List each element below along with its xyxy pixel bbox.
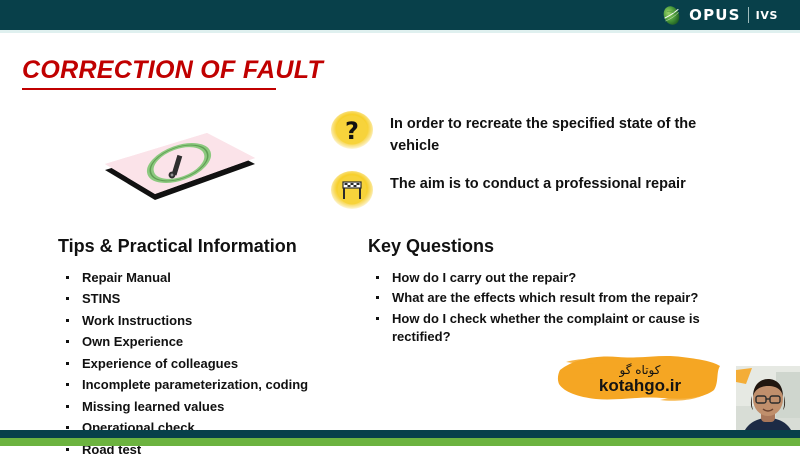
column-heading: Tips & Practical Information xyxy=(58,236,368,257)
tips-column: Tips & Practical Information Repair Manu… xyxy=(58,236,368,462)
list-item: Work Instructions xyxy=(58,312,368,330)
bottom-green-bar xyxy=(0,438,800,446)
presentation-slide: OPUS IVS CORRECTION OF FAULT xyxy=(0,0,800,446)
watermark-persian-text: کوتاه گو xyxy=(620,364,661,376)
list-item: Incomplete parameterization, coding xyxy=(58,376,368,394)
globe-icon xyxy=(661,5,682,26)
title-underline xyxy=(22,88,276,90)
slide-title: CORRECTION OF FAULT xyxy=(22,56,323,85)
brand-name: OPUS xyxy=(689,8,741,23)
key-questions-column: Key Questions How do I carry out the rep… xyxy=(368,236,738,349)
list-item: What are the effects which result from t… xyxy=(368,289,738,307)
list-item: Own Experience xyxy=(58,333,368,351)
green-check-ring-illustration xyxy=(95,112,265,207)
list-item: How do I carry out the repair? xyxy=(368,269,738,287)
list-item: How do I check whether the complaint or … xyxy=(368,310,738,347)
watermark-site-url: kotahgo.ir xyxy=(599,377,681,394)
statement-text: The aim is to conduct a professional rep… xyxy=(390,170,686,196)
svg-text:?: ? xyxy=(345,117,359,145)
opus-ivs-logo: OPUS IVS xyxy=(661,4,778,26)
statement-row-vehicle-state: ? In order to recreate the specified sta… xyxy=(330,110,730,158)
statement-text: In order to recreate the specified state… xyxy=(390,110,710,158)
column-heading: Key Questions xyxy=(368,236,738,257)
list-item: Experience of colleagues xyxy=(58,355,368,373)
header-underline xyxy=(0,30,800,33)
question-mark-icon: ? xyxy=(330,110,374,150)
kotahgo-watermark: کوتاه گو kotahgo.ir xyxy=(556,350,724,408)
brand-divider xyxy=(748,7,749,23)
statement-row-professional-repair: The aim is to conduct a professional rep… xyxy=(330,170,730,210)
key-questions-list: How do I carry out the repair? What are … xyxy=(368,269,738,347)
finish-flag-icon xyxy=(330,170,374,210)
list-item: Repair Manual xyxy=(58,269,368,287)
brand-subname: IVS xyxy=(756,10,778,21)
list-item: Missing learned values xyxy=(58,398,368,416)
bottom-teal-bar xyxy=(0,430,800,438)
list-item: STINS xyxy=(58,290,368,308)
